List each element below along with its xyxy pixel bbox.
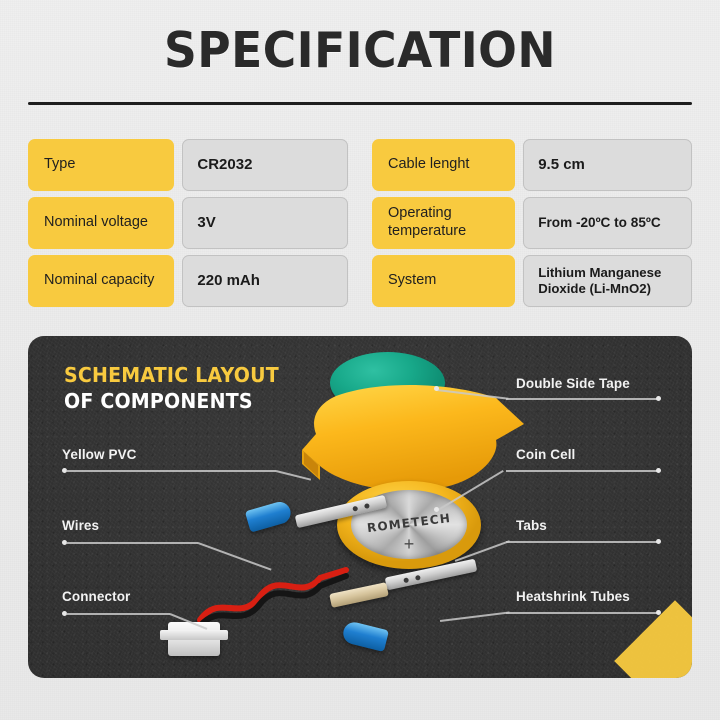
leader-line [506,612,660,614]
callout-label: Double Side Tape [516,376,630,391]
tab-hole [415,574,421,580]
coin-cell-part: ROMETECH + [337,481,481,569]
callout-label: Tabs [516,518,547,533]
tab-hole [364,503,370,509]
leader-line [506,398,660,400]
leader-dot [656,539,661,544]
callout-label: Heatshrink Tubes [516,589,630,604]
coin-cell-brand: ROMETECH [351,509,468,537]
callout-label: Coin Cell [516,447,575,462]
leader-dot [656,468,661,473]
page-background: SPECIFICATION Type CR2032 Nominal voltag… [0,0,720,720]
callout-label: Yellow PVC [62,447,137,462]
callout-label: Connector [62,589,130,604]
leader-line [66,613,170,615]
leader-dot [656,396,661,401]
tab-hole [352,505,358,511]
tab-hole [403,577,409,583]
connector-flange [160,630,228,640]
leader-line [66,470,276,472]
leader-line [66,542,198,544]
coin-cell-polarity: + [351,534,467,555]
callout-label: Wires [62,518,99,533]
leader-line [506,541,660,543]
leader-line [506,470,660,472]
leader-dot [434,386,439,391]
leader-dot [434,507,439,512]
wires-part [196,562,356,634]
leader-dot [656,610,661,615]
heatshrink-tube-part [245,499,293,532]
